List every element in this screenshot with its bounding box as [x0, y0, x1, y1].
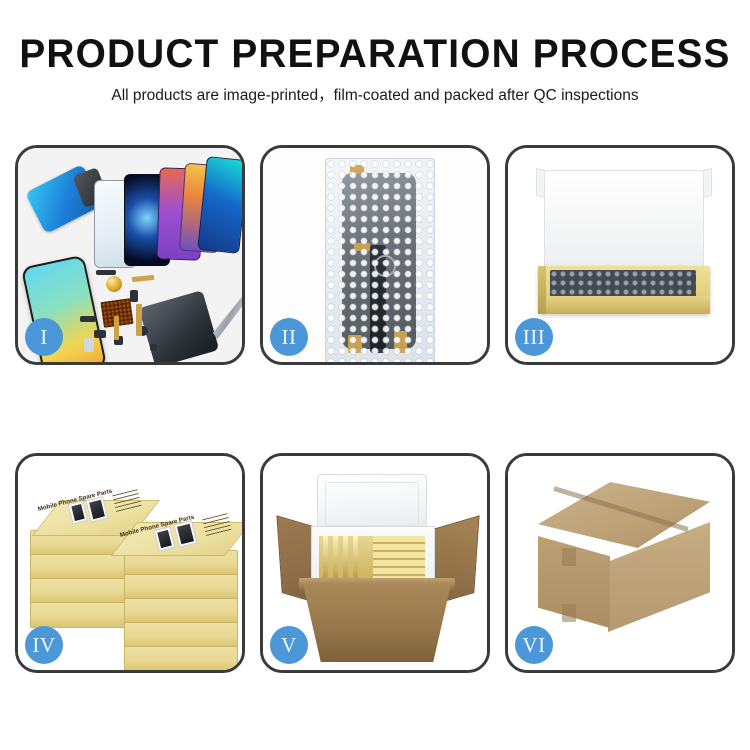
carton-tape-tab-icon: [562, 604, 576, 622]
step-badge-2: II: [270, 318, 308, 356]
yellow-box-slat: [353, 536, 358, 578]
gold-component-icon: [106, 276, 122, 292]
part-bit-icon: [96, 270, 116, 275]
carton-body-icon: [303, 584, 451, 662]
bubble-wrap-bag-icon: [325, 158, 435, 362]
stacked-box: [30, 578, 128, 604]
page-subtitle: All products are image-printed，film-coat…: [0, 88, 750, 104]
yellow-boxes-inside-icon: [319, 536, 425, 578]
process-step-panel-1[interactable]: I: [15, 145, 245, 365]
stacked-box: [124, 574, 238, 600]
flex-ribbon-icon: [136, 304, 142, 336]
stacked-box: [124, 598, 238, 624]
step-badge-3: III: [515, 318, 553, 356]
carton-tape-tab-icon: [562, 548, 576, 566]
process-step-panel-4[interactable]: Mobile Phone Spare Parts Mobile Phone Sp…: [15, 453, 245, 673]
stacked-box: [30, 554, 128, 580]
process-step-panel-2[interactable]: II: [260, 145, 490, 365]
part-bit-icon: [80, 316, 96, 322]
step-badge-5: V: [270, 626, 308, 664]
white-foam-sheet-icon: [546, 196, 700, 274]
yellow-box-slat: [323, 536, 328, 578]
part-bit-icon: [130, 290, 138, 302]
part-bit-icon: [94, 330, 106, 338]
stacked-box: [30, 602, 128, 628]
part-bit-icon: [84, 338, 94, 352]
flex-ribbon-icon: [114, 316, 119, 340]
yellow-box-slat: [343, 536, 348, 578]
step-badge-1: I: [25, 318, 63, 356]
stacked-box: [124, 622, 238, 648]
process-step-panel-6[interactable]: VI: [505, 453, 735, 673]
step-badge-4: IV: [25, 626, 63, 664]
yellow-box-slat: [333, 536, 338, 578]
page-header: PRODUCT PREPARATION PROCESS All products…: [0, 0, 750, 104]
part-bit-icon: [150, 344, 157, 351]
bubble-texture-icon: [326, 159, 434, 362]
yellow-box-block: [373, 536, 425, 578]
yellow-tray-edge-icon: [538, 266, 546, 314]
process-step-panel-5[interactable]: V: [260, 453, 490, 673]
step-badge-6: VI: [515, 626, 553, 664]
foam-box-lid-icon: [317, 474, 427, 534]
page-title: PRODUCT PREPARATION PROCESS: [11, 34, 739, 74]
stacked-box: [124, 646, 238, 670]
process-step-grid: I II: [15, 145, 735, 673]
process-step-panel-3[interactable]: III: [505, 145, 735, 365]
yellow-tray-front-icon: [538, 296, 710, 314]
